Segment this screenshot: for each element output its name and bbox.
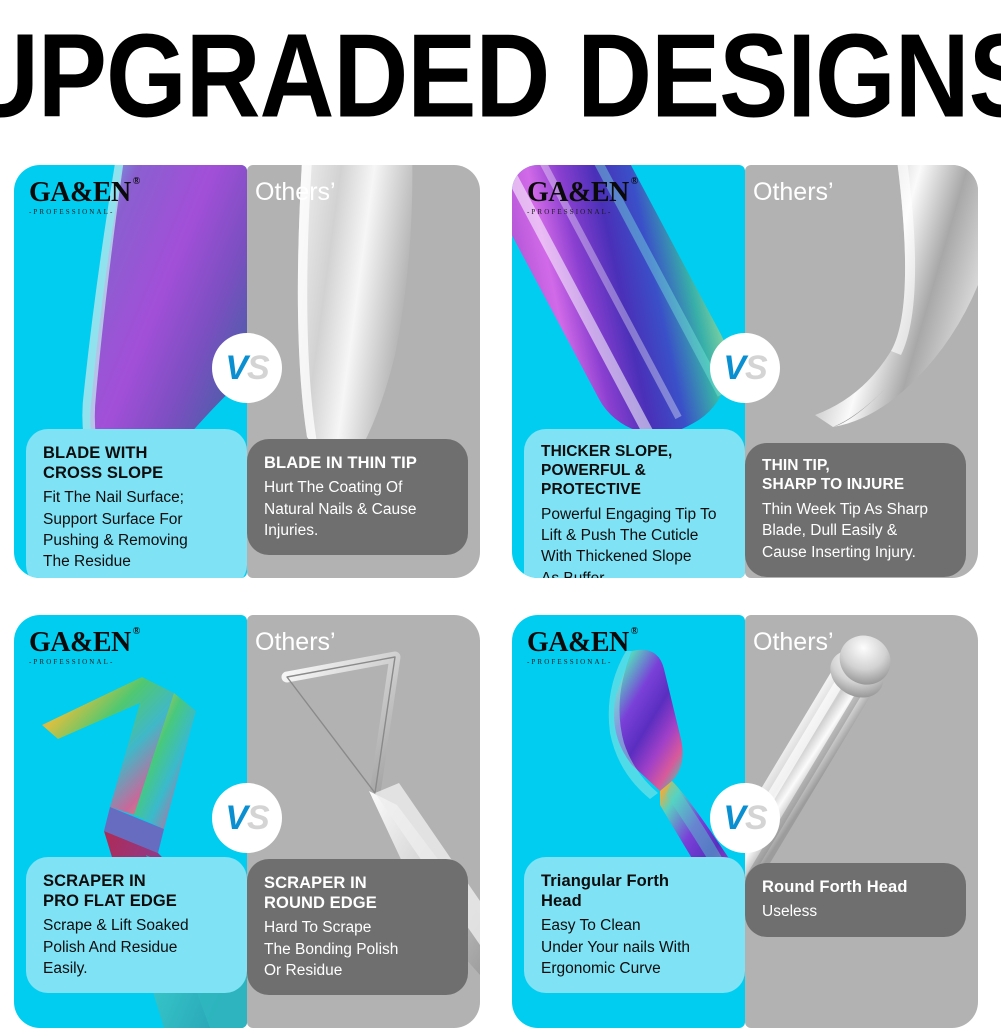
- others-caption-title-3: SCRAPER IN ROUND EDGE: [264, 873, 454, 913]
- brand-tagline: -PROFESSIONAL-: [29, 659, 131, 666]
- brand-logo-2: GA&EN® -PROFESSIONAL-: [527, 179, 629, 216]
- others-panel-1: Others’ BLADE IN THIN TIP Hurt The Coati…: [247, 165, 480, 578]
- others-caption-title-4: Round Forth Head: [762, 877, 952, 897]
- comparison-pair-4: GA&EN® -PROFESSIONAL- Triangular Forth H…: [512, 615, 978, 1028]
- vs-letter-s: S: [247, 349, 269, 388]
- vs-letter-s: S: [247, 799, 269, 838]
- registered-icon: ®: [631, 177, 638, 187]
- others-caption-body-1: Hurt The Coating Of Natural Nails & Caus…: [264, 477, 454, 541]
- others-caption-title-1: BLADE IN THIN TIP: [264, 453, 454, 473]
- others-caption-body-3: Hard To Scrape The Bonding Polish Or Res…: [264, 917, 454, 981]
- ours-caption-body-2: Powerful Engaging Tip To Lift & Push The…: [541, 504, 731, 578]
- vs-badge-2: VS: [710, 333, 780, 403]
- ours-caption-1: BLADE WITH CROSS SLOPE Fit The Nail Surf…: [26, 429, 247, 578]
- others-label-4: Others’: [753, 629, 834, 657]
- brand-name: GA&EN®: [527, 179, 629, 207]
- ours-caption-title-4: Triangular Forth Head: [541, 871, 731, 911]
- brand-logo-1: GA&EN® -PROFESSIONAL-: [29, 179, 131, 216]
- brand-name: GA&EN®: [527, 629, 629, 657]
- ours-caption-body-1: Fit The Nail Surface; Support Surface Fo…: [43, 487, 233, 573]
- comparison-pair-2: GA&EN® -PROFESSIONAL- THICKER SLOPE, POW…: [512, 165, 978, 578]
- ours-caption-body-3: Scrape & Lift Soaked Polish And Residue …: [43, 915, 233, 979]
- registered-icon: ®: [133, 627, 140, 637]
- registered-icon: ®: [133, 177, 140, 187]
- comparison-pair-1: GA&EN® -PROFESSIONAL- BLADE WITH CROSS S…: [14, 165, 480, 578]
- vs-letter-s: S: [745, 799, 767, 838]
- comparison-pair-3: GA&EN® -PROFESSIONAL- SCRAPER IN PRO FLA…: [14, 615, 480, 1028]
- ours-caption-2: THICKER SLOPE, POWERFUL & PROTECTIVE Pow…: [524, 429, 745, 578]
- brand-logo-4: GA&EN® -PROFESSIONAL-: [527, 629, 629, 666]
- page-header: UPGRADED DESIGNS: [0, 0, 1001, 150]
- vs-badge-3: VS: [212, 783, 282, 853]
- vs-letter-v: V: [225, 349, 247, 388]
- vs-letter-v: V: [225, 799, 247, 838]
- others-panel-4: Others’ Round Forth Head Useless: [745, 615, 978, 1028]
- vs-badge-4: VS: [710, 783, 780, 853]
- ours-caption-body-4: Easy To Clean Under Your nails With Ergo…: [541, 915, 731, 979]
- brand-tagline: -PROFESSIONAL-: [29, 209, 131, 216]
- brand-tagline: -PROFESSIONAL-: [527, 209, 629, 216]
- brand-logo-3: GA&EN® -PROFESSIONAL-: [29, 629, 131, 666]
- vs-letter-v: V: [723, 349, 745, 388]
- others-caption-1: BLADE IN THIN TIP Hurt The Coating Of Na…: [247, 439, 468, 555]
- brand-name: GA&EN®: [29, 629, 131, 657]
- page-title: UPGRADED DESIGNS: [0, 16, 1001, 134]
- others-caption-3: SCRAPER IN ROUND EDGE Hard To Scrape The…: [247, 859, 468, 995]
- others-label-1: Others’: [255, 179, 336, 207]
- others-caption-body-2: Thin Week Tip As Sharp Blade, Dull Easil…: [762, 499, 952, 563]
- ours-caption-4: Triangular Forth Head Easy To Clean Unde…: [524, 857, 745, 993]
- others-caption-title-2: THIN TIP, SHARP TO INJURE: [762, 457, 952, 495]
- others-caption-4: Round Forth Head Useless: [745, 863, 966, 937]
- ours-caption-title-2: THICKER SLOPE, POWERFUL & PROTECTIVE: [541, 443, 731, 500]
- comparison-grid: GA&EN® -PROFESSIONAL- BLADE WITH CROSS S…: [0, 150, 1001, 1001]
- brand-name: GA&EN®: [29, 179, 131, 207]
- others-caption-2: THIN TIP, SHARP TO INJURE Thin Week Tip …: [745, 443, 966, 577]
- others-label-3: Others’: [255, 629, 336, 657]
- others-label-2: Others’: [753, 179, 834, 207]
- others-panel-2: Others’ THIN TIP, SHARP TO INJURE Thin W…: [745, 165, 978, 578]
- brand-tagline: -PROFESSIONAL-: [527, 659, 629, 666]
- others-panel-3: Others’ SCRAPER IN ROUND EDGE Hard To Sc…: [247, 615, 480, 1028]
- registered-icon: ®: [631, 627, 638, 637]
- ours-caption-3: SCRAPER IN PRO FLAT EDGE Scrape & Lift S…: [26, 857, 247, 993]
- vs-badge-1: VS: [212, 333, 282, 403]
- round-forth-head-image: [745, 615, 978, 1028]
- others-caption-body-4: Useless: [762, 901, 952, 922]
- vs-letter-s: S: [745, 349, 767, 388]
- vs-letter-v: V: [723, 799, 745, 838]
- ours-caption-title-1: BLADE WITH CROSS SLOPE: [43, 443, 233, 483]
- ours-caption-title-3: SCRAPER IN PRO FLAT EDGE: [43, 871, 233, 911]
